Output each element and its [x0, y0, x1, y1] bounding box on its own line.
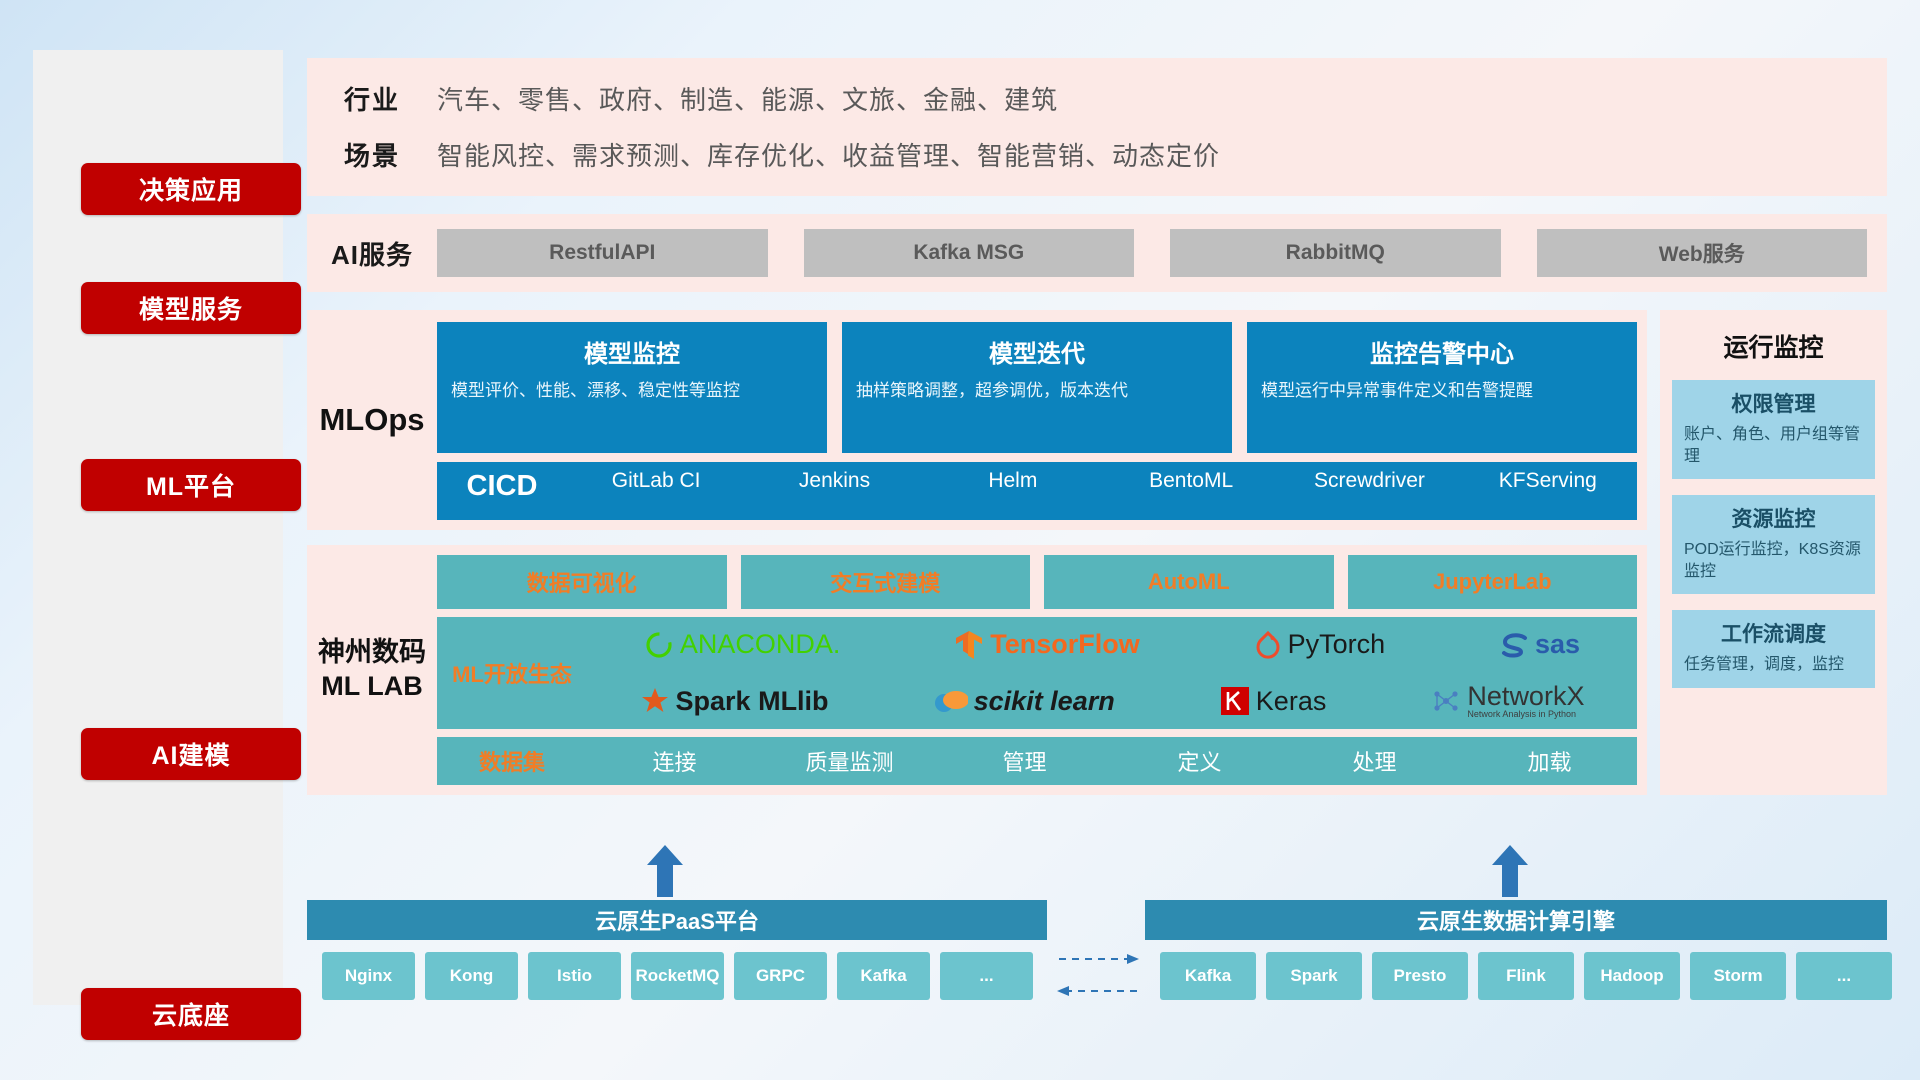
scikit-learn-logo: scikit learn	[934, 686, 1115, 717]
ml-lab-tab-data-visualization[interactable]: 数据可视化	[437, 555, 727, 609]
sas-logo-text: sas	[1535, 629, 1580, 660]
dataset-item-list: 连接 质量监测 管理 定义 处理 加载	[587, 745, 1637, 777]
industry-label: 行业	[307, 80, 437, 117]
pytorch-logo: PyTorch	[1254, 629, 1386, 660]
paas-chip-kong[interactable]: Kong	[425, 952, 518, 1000]
monitoring-card-permission[interactable]: 权限管理 账户、角色、用户组等管理	[1672, 380, 1875, 479]
dataset-item-load[interactable]: 加载	[1462, 745, 1637, 777]
engine-chip-flink[interactable]: Flink	[1478, 952, 1574, 1000]
scenario-row: 场景 智能风控、需求预测、库存优化、收益管理、智能营销、动态定价	[307, 126, 1887, 182]
paas-chip-rocketmq[interactable]: RocketMQ	[631, 952, 724, 1000]
mlops-card-alert-center[interactable]: 监控告警中心 模型运行中异常事件定义和告警提醒	[1247, 322, 1637, 453]
mlops-card-title: 模型监控	[451, 334, 813, 369]
spark-mllib-logo-text: Spark MLlib	[676, 686, 829, 717]
dataset-label: 数据集	[437, 745, 587, 777]
bidirectional-dashed-arrows	[1055, 945, 1141, 1005]
ml-ecosystem-logos: ANACONDA. TensorFlow	[587, 617, 1637, 730]
paas-chip-grpc[interactable]: GRPC	[734, 952, 827, 1000]
ml-lab-label-line1: 神州数码	[318, 636, 426, 670]
mlops-card-model-monitoring[interactable]: 模型监控 模型评价、性能、漂移、稳定性等监控	[437, 322, 827, 453]
ml-lab-tab-automl[interactable]: AutoML	[1044, 555, 1334, 609]
ai-service-box-kafka-msg[interactable]: Kafka MSG	[804, 229, 1135, 277]
scenario-label: 场景	[307, 136, 437, 173]
rail-tag-decision-app[interactable]: 决策应用	[81, 163, 301, 215]
scenario-value: 智能风控、需求预测、库存优化、收益管理、智能营销、动态定价	[437, 136, 1220, 173]
ml-ecosystem-logo-row-2: Spark MLlib scikit learn	[587, 673, 1637, 729]
monitoring-card-desc: POD运行监控，K8S资源监控	[1684, 539, 1863, 582]
paas-chip-istio[interactable]: Istio	[528, 952, 621, 1000]
keras-logo-text: Keras	[1256, 686, 1327, 717]
engine-chip-hadoop[interactable]: Hadoop	[1584, 952, 1680, 1000]
monitoring-card-title: 资源监控	[1684, 503, 1863, 533]
anaconda-logo-text: ANACONDA.	[680, 629, 841, 660]
ai-service-box-list: RestfulAPI Kafka MSG RabbitMQ Web服务	[437, 229, 1887, 277]
rail-tag-ml-platform[interactable]: ML平台	[81, 459, 301, 511]
cicd-tool-screwdriver[interactable]: Screwdriver	[1280, 470, 1458, 492]
networkx-logo-subtext: Network Analysis in Python	[1467, 710, 1584, 719]
engine-chip-list: Kafka Spark Presto Flink Hadoop Storm ..…	[1160, 952, 1902, 1000]
rail-tag-ai-modeling[interactable]: AI建模	[81, 728, 301, 780]
pytorch-logo-text: PyTorch	[1288, 629, 1386, 660]
monitoring-card-desc: 任务管理，调度，监控	[1684, 654, 1863, 676]
mlops-card-desc: 模型运行中异常事件定义和告警提醒	[1261, 379, 1623, 403]
cicd-row: CICD GitLab CI Jenkins Helm BentoML Scre…	[437, 462, 1637, 520]
paas-up-arrow	[645, 845, 685, 902]
spark-mllib-logo: Spark MLlib	[640, 686, 829, 717]
ai-service-box-rabbitmq[interactable]: RabbitMQ	[1170, 229, 1501, 277]
diagram-canvas: 决策应用 模型服务 ML平台 AI建模 云底座 行业 汽车、零售、政府、制造、能…	[0, 0, 1920, 1080]
cicd-tool-helm[interactable]: Helm	[924, 470, 1102, 492]
ml-lab-label: 神州数码 ML LAB	[307, 545, 437, 795]
mlops-card-desc: 抽样策略调整，超参调优，版本迭代	[856, 379, 1218, 403]
mlops-content: 模型监控 模型评价、性能、漂移、稳定性等监控 模型迭代 抽样策略调整，超参调优，…	[437, 310, 1647, 530]
ml-lab-content: 数据可视化 交互式建模 AutoML JupyterLab ML开放生态 ANA…	[437, 545, 1647, 795]
mlops-label: MLOps	[307, 310, 437, 530]
paas-chip-kafka[interactable]: Kafka	[837, 952, 930, 1000]
dataset-item-process[interactable]: 处理	[1287, 745, 1462, 777]
networkx-logo: NetworkX Network Analysis in Python	[1431, 683, 1584, 719]
mlops-band: MLOps 模型监控 模型评价、性能、漂移、稳定性等监控 模型迭代 抽样策略调整…	[307, 310, 1647, 530]
industry-scenario-band: 行业 汽车、零售、政府、制造、能源、文旅、金融、建筑 场景 智能风控、需求预测、…	[307, 58, 1887, 196]
engine-chip-storm[interactable]: Storm	[1690, 952, 1786, 1000]
anaconda-logo: ANACONDA.	[644, 629, 841, 660]
rail-tag-cloud-base[interactable]: 云底座	[81, 988, 301, 1040]
engine-chip-presto[interactable]: Presto	[1372, 952, 1468, 1000]
mlops-card-desc: 模型评价、性能、漂移、稳定性等监控	[451, 379, 813, 403]
cicd-tool-bentoml[interactable]: BentoML	[1102, 470, 1280, 492]
paas-chip-nginx[interactable]: Nginx	[322, 952, 415, 1000]
dataset-row: 数据集 连接 质量监测 管理 定义 处理 加载	[437, 737, 1637, 785]
cicd-tool-jenkins[interactable]: Jenkins	[745, 470, 923, 492]
paas-chip-list: Nginx Kong Istio RocketMQ GRPC Kafka ...	[322, 952, 1062, 1000]
runtime-monitoring-title: 运行监控	[1672, 328, 1875, 364]
cicd-tool-gitlab-ci[interactable]: GitLab CI	[567, 470, 745, 492]
mlops-card-title: 模型迭代	[856, 334, 1218, 369]
runtime-monitoring-panel: 运行监控 权限管理 账户、角色、用户组等管理 资源监控 POD运行监控，K8S资…	[1660, 310, 1887, 795]
dataset-item-define[interactable]: 定义	[1112, 745, 1287, 777]
ml-ecosystem-panel: ML开放生态 ANACONDA.	[437, 617, 1637, 730]
ml-lab-tab-list: 数据可视化 交互式建模 AutoML JupyterLab	[437, 555, 1637, 609]
dataset-item-quality-monitoring[interactable]: 质量监测	[762, 745, 937, 777]
ml-lab-tab-interactive-modeling[interactable]: 交互式建模	[741, 555, 1031, 609]
paas-chip-more[interactable]: ...	[940, 952, 1033, 1000]
ai-service-band: AI服务 RestfulAPI Kafka MSG RabbitMQ Web服务	[307, 214, 1887, 292]
cicd-tool-kfserving[interactable]: KFServing	[1459, 470, 1637, 492]
ml-ecosystem-logo-row-1: ANACONDA. TensorFlow	[587, 617, 1637, 673]
monitoring-card-desc: 账户、角色、用户组等管理	[1684, 424, 1863, 467]
left-rail: 决策应用 模型服务 ML平台 AI建模 云底座	[33, 50, 283, 1005]
monitoring-card-title: 权限管理	[1684, 388, 1863, 418]
mlops-card-title: 监控告警中心	[1261, 334, 1623, 369]
industry-value: 汽车、零售、政府、制造、能源、文旅、金融、建筑	[437, 80, 1058, 117]
cicd-tool-list: GitLab CI Jenkins Helm BentoML Screwdriv…	[567, 470, 1637, 492]
ai-service-box-restfulapi[interactable]: RestfulAPI	[437, 229, 768, 277]
sas-logo: sas	[1499, 629, 1580, 660]
mlops-card-model-iteration[interactable]: 模型迭代 抽样策略调整，超参调优，版本迭代	[842, 322, 1232, 453]
keras-logo: Keras	[1220, 686, 1327, 717]
ml-lab-tab-jupyterlab[interactable]: JupyterLab	[1348, 555, 1638, 609]
engine-chip-spark[interactable]: Spark	[1266, 952, 1362, 1000]
monitoring-card-title: 工作流调度	[1684, 618, 1863, 648]
paas-platform-bar[interactable]: 云原生PaaS平台	[307, 900, 1047, 940]
rail-tag-model-service[interactable]: 模型服务	[81, 282, 301, 334]
dataset-item-connect[interactable]: 连接	[587, 745, 762, 777]
tensorflow-logo: TensorFlow	[954, 629, 1140, 661]
ml-ecosystem-label: ML开放生态	[437, 657, 587, 689]
scikit-learn-logo-text: scikit learn	[974, 686, 1115, 717]
industry-row: 行业 汽车、零售、政府、制造、能源、文旅、金融、建筑	[307, 70, 1887, 126]
ml-lab-band: 神州数码 ML LAB 数据可视化 交互式建模 AutoML JupyterLa…	[307, 545, 1647, 795]
ai-service-label: AI服务	[307, 235, 437, 272]
monitoring-card-workflow[interactable]: 工作流调度 任务管理，调度，监控	[1672, 610, 1875, 688]
mlops-card-list: 模型监控 模型评价、性能、漂移、稳定性等监控 模型迭代 抽样策略调整，超参调优，…	[437, 322, 1637, 453]
engine-up-arrow	[1490, 845, 1530, 902]
tensorflow-logo-text: TensorFlow	[990, 629, 1140, 660]
dataset-item-manage[interactable]: 管理	[937, 745, 1112, 777]
ai-service-box-web-service[interactable]: Web服务	[1537, 229, 1868, 277]
ml-lab-label-line2: ML LAB	[318, 670, 426, 704]
cicd-label: CICD	[437, 470, 567, 503]
engine-chip-more[interactable]: ...	[1796, 952, 1892, 1000]
data-compute-engine-bar[interactable]: 云原生数据计算引擎	[1145, 900, 1887, 940]
engine-chip-kafka[interactable]: Kafka	[1160, 952, 1256, 1000]
monitoring-card-resource[interactable]: 资源监控 POD运行监控，K8S资源监控	[1672, 495, 1875, 594]
networkx-logo-text: NetworkX	[1467, 683, 1584, 710]
